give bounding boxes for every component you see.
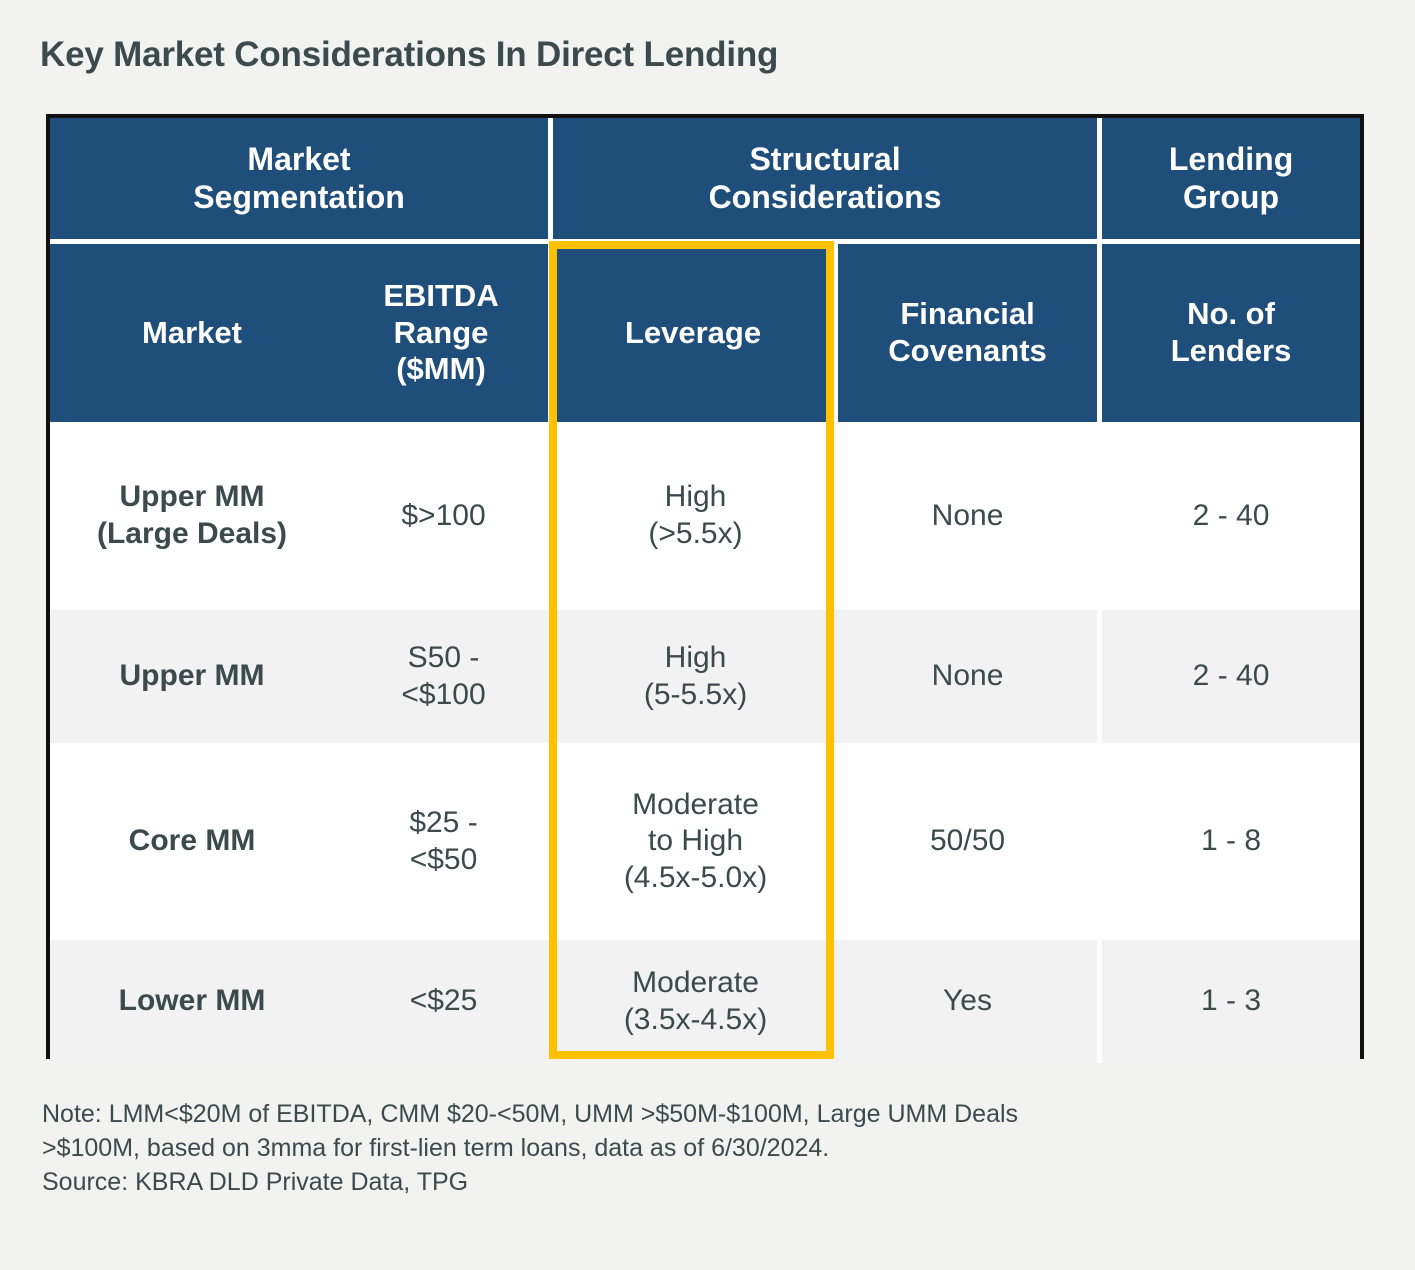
table-row: Core MM $25 - <$50 Moderate to High (4.5… xyxy=(50,743,1360,940)
cell-financial-covenants: None xyxy=(838,422,1102,610)
cell-market: Upper MM (Large Deals) xyxy=(50,422,334,610)
cell-line-2: (>5.5x) xyxy=(553,516,838,553)
cell-line-2: (3.5x-4.5x) xyxy=(553,1002,838,1039)
cell-line-1: Moderate xyxy=(553,965,838,1002)
cell-leverage: High (>5.5x) xyxy=(553,422,838,610)
group-header-line-2: Group xyxy=(1102,179,1360,217)
cell-financial-covenants: 50/50 xyxy=(838,743,1102,940)
group-header-line-1: Market xyxy=(50,141,548,179)
column-header-line-2: Covenants xyxy=(838,333,1097,370)
cell-line-1: Core MM xyxy=(50,823,334,860)
footnote: Note: LMM<$20M of EBITDA, CMM $20-<50M, … xyxy=(42,1098,1362,1199)
cell-no-of-lenders: 1 - 8 xyxy=(1102,743,1360,940)
group-header-market-segmentation: Market Segmentation xyxy=(50,118,553,244)
cell-line-1: High xyxy=(553,640,838,677)
cell-line-1: Upper MM xyxy=(50,658,334,695)
cell-line-2: (5-5.5x) xyxy=(553,677,838,714)
cell-line-2: to High xyxy=(553,823,838,860)
table-group-header-row: Market Segmentation Structural Considera… xyxy=(50,118,1360,244)
cell-line-3: (4.5x-5.0x) xyxy=(553,860,838,897)
group-header-line-2: Segmentation xyxy=(50,179,548,217)
cell-financial-covenants: None xyxy=(838,610,1102,743)
cell-line-2: <$100 xyxy=(334,677,553,714)
cell-leverage: High (5-5.5x) xyxy=(553,610,838,743)
footnote-note-line-1: Note: LMM<$20M of EBITDA, CMM $20-<50M, … xyxy=(42,1098,1362,1132)
column-header-market: Market xyxy=(50,244,334,422)
column-header-line-2: Range xyxy=(334,315,548,352)
column-header-line-1: Leverage xyxy=(553,315,833,352)
cell-line-1: $>100 xyxy=(334,498,553,535)
group-header-line-1: Structural xyxy=(553,141,1097,179)
column-header-no-of-lenders: No. of Lenders xyxy=(1102,244,1360,422)
table-row: Lower MM <$25 Moderate (3.5x-4.5x) Yes 1… xyxy=(50,940,1360,1063)
column-header-leverage: Leverage xyxy=(553,244,838,422)
cell-line-1: 2 - 40 xyxy=(1102,498,1360,535)
footnote-note-line-2: >$100M, based on 3mma for first-lien ter… xyxy=(42,1132,1362,1166)
cell-line-1: <$25 xyxy=(334,983,553,1020)
cell-line-1: Yes xyxy=(838,983,1097,1020)
cell-no-of-lenders: 1 - 3 xyxy=(1102,940,1360,1063)
column-header-line-1: No. of xyxy=(1102,296,1360,333)
cell-line-1: $25 - xyxy=(334,805,553,842)
cell-financial-covenants: Yes xyxy=(838,940,1102,1063)
table-row: Upper MM (Large Deals) $>100 High (>5.5x… xyxy=(50,422,1360,610)
cell-line-1: None xyxy=(838,658,1097,695)
table-row: Upper MM S50 - <$100 High (5-5.5x) None xyxy=(50,610,1360,743)
column-header-line-2: Lenders xyxy=(1102,333,1360,370)
column-header-line-1: EBITDA xyxy=(334,278,548,315)
cell-ebitda-range: $25 - <$50 xyxy=(334,743,553,940)
cell-line-1: Upper MM xyxy=(50,479,334,516)
column-header-line-3: ($MM) xyxy=(334,351,548,388)
cell-line-1: Moderate xyxy=(553,787,838,824)
cell-line-1: None xyxy=(838,498,1097,535)
cell-leverage: Moderate (3.5x-4.5x) xyxy=(553,940,838,1063)
page-root: Key Market Considerations In Direct Lend… xyxy=(0,0,1415,1270)
cell-no-of-lenders: 2 - 40 xyxy=(1102,422,1360,610)
cell-line-1: 1 - 3 xyxy=(1102,983,1360,1020)
group-header-line-1: Lending xyxy=(1102,141,1360,179)
column-header-line-1: Market xyxy=(50,315,334,352)
cell-line-1: 2 - 40 xyxy=(1102,658,1360,695)
column-header-ebitda-range: EBITDA Range ($MM) xyxy=(334,244,553,422)
column-header-line-1: Financial xyxy=(838,296,1097,333)
page-title: Key Market Considerations In Direct Lend… xyxy=(40,35,778,75)
cell-market: Upper MM xyxy=(50,610,334,743)
cell-line-1: High xyxy=(553,479,838,516)
cell-line-1: 50/50 xyxy=(838,823,1097,860)
cell-line-1: Lower MM xyxy=(50,983,334,1020)
cell-line-2: (Large Deals) xyxy=(50,516,334,553)
group-header-line-2: Considerations xyxy=(553,179,1097,217)
footnote-source-line: Source: KBRA DLD Private Data, TPG xyxy=(42,1166,1362,1200)
cell-line-1: S50 - xyxy=(334,640,553,677)
cell-market: Core MM xyxy=(50,743,334,940)
cell-ebitda-range: $>100 xyxy=(334,422,553,610)
table-column-header-row: Market EBITDA Range ($MM) Leverage Finan… xyxy=(50,244,1360,422)
column-header-financial-covenants: Financial Covenants xyxy=(838,244,1102,422)
cell-line-2: <$50 xyxy=(334,842,553,879)
cell-ebitda-range: S50 - <$100 xyxy=(334,610,553,743)
table-grid: Market Segmentation Structural Considera… xyxy=(50,118,1360,1063)
cell-no-of-lenders: 2 - 40 xyxy=(1102,610,1360,743)
cell-ebitda-range: <$25 xyxy=(334,940,553,1063)
cell-leverage: Moderate to High (4.5x-5.0x) xyxy=(553,743,838,940)
group-header-structural-considerations: Structural Considerations xyxy=(553,118,1102,244)
group-header-lending-group: Lending Group xyxy=(1102,118,1360,244)
cell-market: Lower MM xyxy=(50,940,334,1063)
cell-line-1: 1 - 8 xyxy=(1102,823,1360,860)
market-considerations-table: Market Segmentation Structural Considera… xyxy=(46,114,1364,1059)
